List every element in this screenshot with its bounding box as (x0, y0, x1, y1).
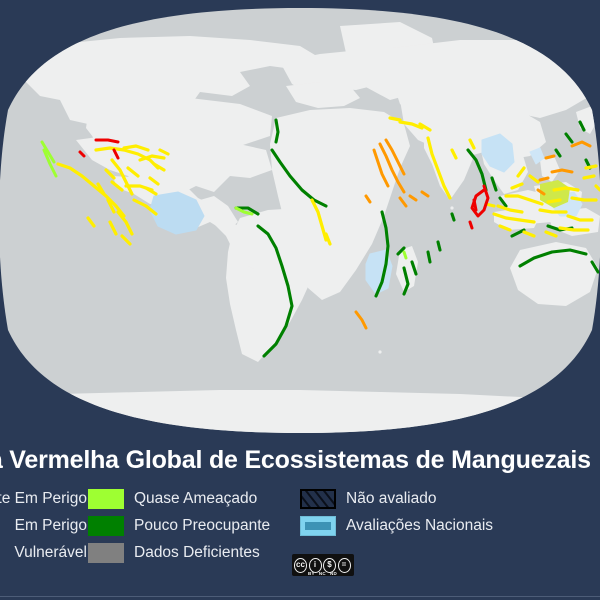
poster-root: Lista Vermelha Global de Ecossistemas de… (0, 0, 600, 600)
cc-term-nd: ND (330, 571, 337, 576)
legend-item[interactable]: Avaliações Nacionais (300, 514, 493, 538)
cc-nd-icon: = (338, 558, 351, 573)
national-assessment-swatch (300, 516, 336, 536)
color-swatch-near-threatened (88, 489, 124, 509)
legend-column-other: Não avaliado Avaliações Nacionais (300, 487, 493, 541)
legend-item[interactable]: Criticamente Em Perigo (0, 487, 87, 511)
legend-item[interactable]: Vulnerável (0, 541, 87, 565)
legend-label: Não avaliado (346, 489, 436, 509)
cc-term-by: BY (308, 571, 315, 576)
world-map-svg[interactable] (0, 0, 600, 437)
bottom-divider (0, 596, 600, 597)
legend-label: Dados Deficientes (134, 543, 260, 563)
world-map[interactable] (0, 0, 600, 437)
hatch-swatch-not-evaluated (300, 489, 336, 509)
legend-item[interactable]: Não avaliado (300, 487, 493, 511)
legend-column-threatened: Criticamente Em Perigo Em Perigo Vulnerá… (0, 487, 87, 568)
legend-item[interactable]: Dados Deficientes (88, 541, 270, 565)
legend-label: Em Perigo (15, 516, 87, 536)
legend-item[interactable]: Quase Ameaçado (88, 487, 270, 511)
legend-label: Vulnerável (14, 543, 87, 563)
legend-label: Quase Ameaçado (134, 489, 257, 509)
legend-label: Pouco Preocupante (134, 516, 270, 536)
color-swatch-data-deficient (88, 543, 124, 563)
cc-by-nc-nd-badge[interactable]: cc i $ = BY NC ND (292, 554, 354, 576)
legend-column-lower-risk: Quase Ameaçado Pouco Preocupante Dados D… (88, 487, 270, 568)
legend-item[interactable]: Pouco Preocupante (88, 514, 270, 538)
page-title: Lista Vermelha Global de Ecossistemas de… (0, 446, 600, 475)
cc-terms: BY NC ND (308, 571, 337, 576)
cc-term-nc: NC (319, 571, 326, 576)
color-swatch-least-concern (88, 516, 124, 536)
cc-icon: cc (294, 558, 307, 573)
legend-label: Avaliações Nacionais (346, 516, 493, 536)
legend-item[interactable]: Em Perigo (0, 514, 87, 538)
legend-label: Criticamente Em Perigo (0, 489, 87, 509)
